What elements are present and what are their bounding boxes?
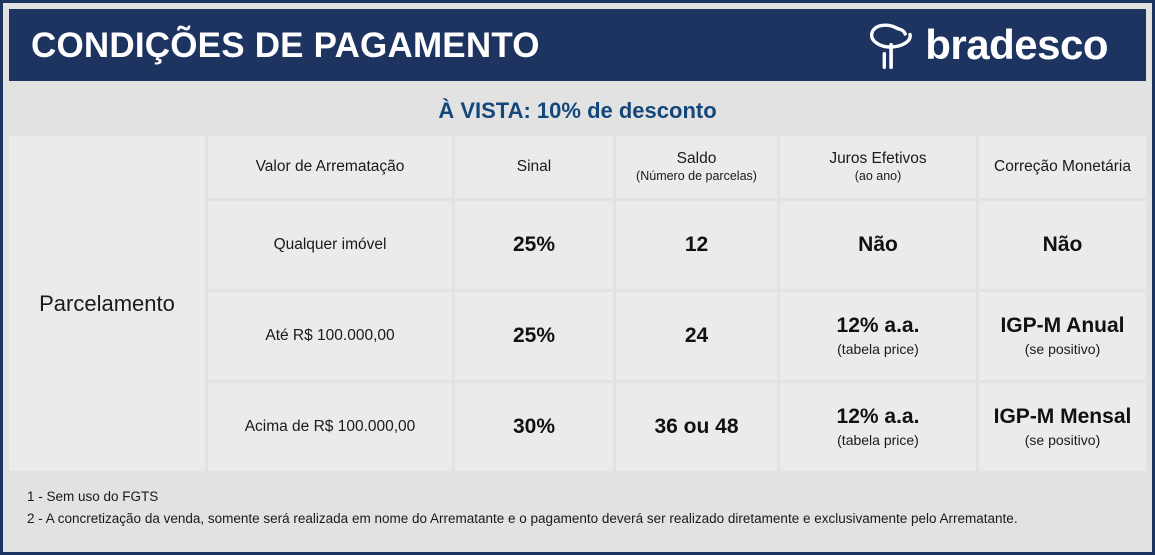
column-header-saldo-label: Saldo [677, 150, 717, 168]
cell-sinal-text: 25% [513, 233, 555, 257]
cell-valor: Qualquer imóvel [208, 201, 452, 289]
cell-saldo-text: 12 [685, 233, 708, 257]
column-header-saldo-sub: (Número de parcelas) [636, 169, 757, 184]
table-row: Acima de R$ 100.000,00 30% 36 ou 48 12% … [208, 383, 1146, 474]
cell-juros: 12% a.a. (tabela price) [780, 292, 976, 380]
cell-correcao: IGP-M Anual (se positivo) [979, 292, 1146, 380]
column-header-sinal: Sinal [455, 136, 613, 198]
cell-sinal-text: 30% [513, 415, 555, 439]
cell-correcao-text: IGP-M Anual [1000, 314, 1124, 338]
cell-juros: 12% a.a. (tabela price) [780, 383, 976, 471]
footnotes: 1 - Sem uso do FGTS 2 - A concretização … [9, 477, 1146, 546]
cell-valor-text: Qualquer imóvel [274, 236, 387, 255]
page-title: CONDIÇÕES DE PAGAMENTO [31, 28, 540, 63]
discount-text: À VISTA: 10% de desconto [438, 100, 716, 122]
column-header-saldo: Saldo (Número de parcelas) [616, 136, 777, 198]
cell-valor: Acima de R$ 100.000,00 [208, 383, 452, 471]
table-header-row: Valor de Arrematação Sinal Saldo (Número… [208, 136, 1146, 201]
cell-sinal: 25% [455, 201, 613, 289]
cell-sinal: 25% [455, 292, 613, 380]
cell-juros: Não [780, 201, 976, 289]
column-header-sinal-label: Sinal [517, 158, 551, 176]
conditions-table: Parcelamento Valor de Arrematação Sinal … [9, 136, 1146, 474]
cell-saldo-text: 36 ou 48 [654, 415, 738, 439]
payment-conditions-card: CONDIÇÕES DE PAGAMENTO bradesco À VISTA:… [0, 0, 1155, 555]
column-header-valor-label: Valor de Arrematação [256, 158, 405, 176]
table-row: Até R$ 100.000,00 25% 24 12% a.a. (tabel… [208, 292, 1146, 383]
brand-name: bradesco [925, 24, 1108, 66]
cell-juros-text: Não [858, 233, 898, 257]
discount-band: À VISTA: 10% de desconto [9, 87, 1146, 134]
footnote-2: 2 - A concretização da venda, somente se… [27, 508, 1132, 530]
cell-correcao-sub: (se positivo) [1025, 432, 1100, 449]
cell-juros-sub: (tabela price) [837, 341, 919, 358]
row-group-label: Parcelamento [9, 136, 205, 471]
cell-juros-sub: (tabela price) [837, 432, 919, 449]
column-header-juros: Juros Efetivos (ao ano) [780, 136, 976, 198]
bradesco-tree-logo-icon [867, 19, 917, 71]
cell-correcao-text: IGP-M Mensal [994, 405, 1132, 429]
cell-correcao: Não [979, 201, 1146, 289]
column-header-correcao-label: Correção Monetária [994, 158, 1131, 176]
header-bar: CONDIÇÕES DE PAGAMENTO bradesco [9, 9, 1146, 81]
footnote-1: 1 - Sem uso do FGTS [27, 486, 1132, 508]
column-header-juros-sub: (ao ano) [855, 169, 902, 184]
column-header-correcao: Correção Monetária [979, 136, 1146, 198]
cell-juros-text: 12% a.a. [837, 314, 920, 338]
cell-juros-text: 12% a.a. [837, 405, 920, 429]
cell-saldo-text: 24 [685, 324, 708, 348]
cell-valor-text: Acima de R$ 100.000,00 [245, 418, 416, 437]
column-header-juros-label: Juros Efetivos [829, 150, 926, 168]
cell-saldo: 12 [616, 201, 777, 289]
cell-correcao-sub: (se positivo) [1025, 341, 1100, 358]
cell-correcao: IGP-M Mensal (se positivo) [979, 383, 1146, 471]
brand-logo: bradesco [867, 19, 1124, 71]
column-header-valor: Valor de Arrematação [208, 136, 452, 198]
cell-sinal: 30% [455, 383, 613, 471]
cell-saldo: 24 [616, 292, 777, 380]
cell-valor: Até R$ 100.000,00 [208, 292, 452, 380]
table-grid: Valor de Arrematação Sinal Saldo (Número… [208, 136, 1146, 474]
row-group-label-text: Parcelamento [39, 293, 175, 315]
cell-valor-text: Até R$ 100.000,00 [265, 327, 394, 346]
cell-saldo: 36 ou 48 [616, 383, 777, 471]
table-row: Qualquer imóvel 25% 12 Não Não [208, 201, 1146, 292]
cell-sinal-text: 25% [513, 324, 555, 348]
cell-correcao-text: Não [1043, 233, 1083, 257]
